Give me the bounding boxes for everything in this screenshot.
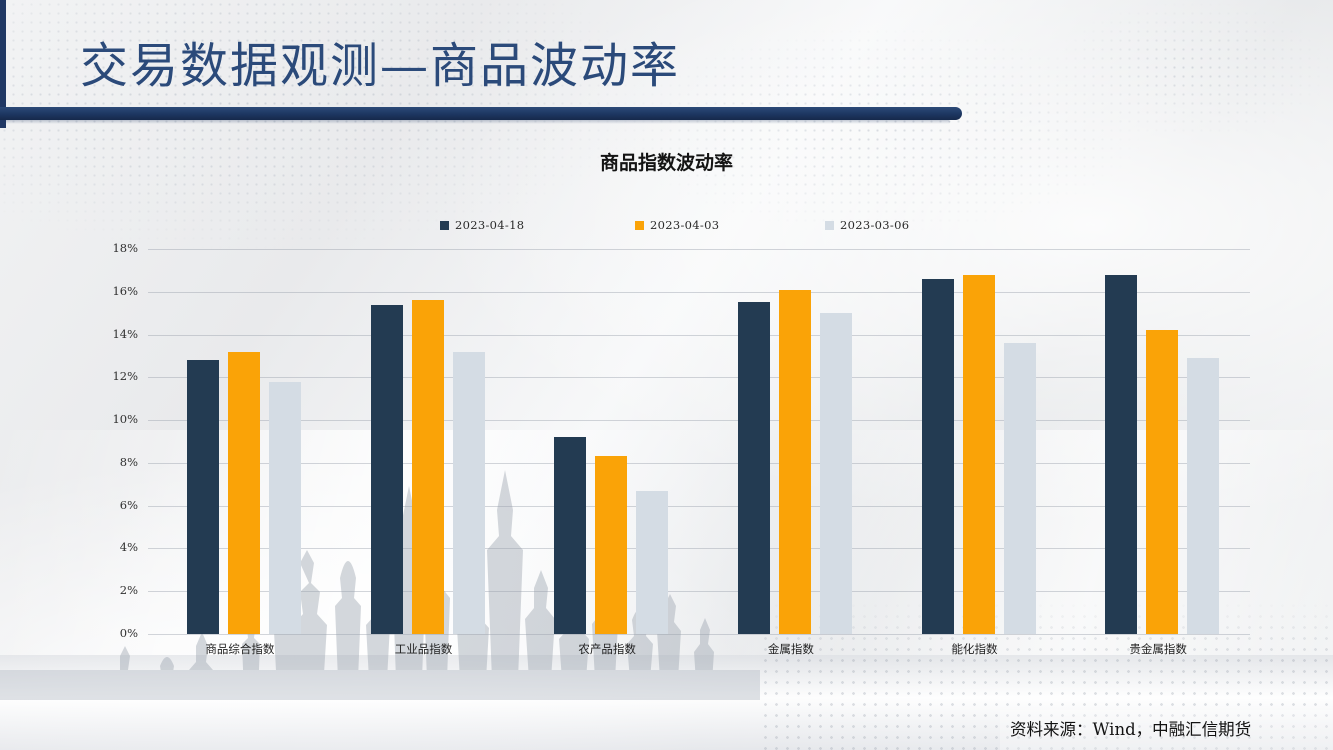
gridline: [148, 548, 1250, 549]
gridline: [148, 292, 1250, 293]
bar-2023-03-06-商品综合指数: [269, 382, 301, 634]
y-axis-tick-label: 2%: [98, 583, 138, 597]
y-axis-tick-label: 14%: [98, 327, 138, 341]
y-axis-tick-label: 0%: [98, 626, 138, 640]
legend-label: 2023-03-06: [840, 218, 909, 232]
y-axis-tick-label: 6%: [98, 498, 138, 512]
y-axis-tick-label: 18%: [98, 241, 138, 255]
bar-2023-04-18-商品综合指数: [187, 360, 219, 634]
gridline: [148, 463, 1250, 464]
commodity-volatility-chart: 商品指数波动率 2023-04-182023-04-032023-03-06 0…: [0, 130, 1333, 675]
bar-2023-04-18-工业品指数: [371, 305, 403, 634]
header-accent-bar: [0, 107, 962, 120]
x-axis-category-label: 金属指数: [699, 641, 883, 657]
bar-2023-04-03-贵金属指数: [1146, 330, 1178, 634]
bar-2023-03-06-农产品指数: [636, 491, 668, 634]
legend-item-2023-04-03[interactable]: 2023-04-03: [635, 218, 719, 232]
legend-swatch-icon: [440, 221, 449, 230]
x-axis-category-label: 能化指数: [883, 641, 1067, 657]
gridline: [148, 506, 1250, 507]
gridline: [148, 591, 1250, 592]
legend-label: 2023-04-03: [650, 218, 719, 232]
legend-swatch-icon: [825, 221, 834, 230]
legend-swatch-icon: [635, 221, 644, 230]
slide-canvas: 交易数据观测—商品波动率 商品指数波动率 2023-04-182023-04-0…: [0, 0, 1333, 750]
bar-2023-04-18-农产品指数: [554, 437, 586, 634]
bar-2023-04-03-农产品指数: [595, 456, 627, 634]
x-axis-category-label: 贵金属指数: [1066, 641, 1250, 657]
page-title: 交易数据观测—商品波动率: [80, 26, 680, 96]
bar-2023-04-03-能化指数: [963, 275, 995, 634]
x-axis-category-label: 工业品指数: [332, 641, 516, 657]
legend-item-2023-04-18[interactable]: 2023-04-18: [440, 218, 524, 232]
gridline: [148, 335, 1250, 336]
bar-2023-04-03-工业品指数: [412, 300, 444, 634]
gridline: [148, 420, 1250, 421]
bar-2023-04-03-商品综合指数: [228, 352, 260, 634]
y-axis-tick-label: 10%: [98, 412, 138, 426]
gridline: [148, 249, 1250, 250]
bar-2023-03-06-金属指数: [820, 313, 852, 634]
bar-2023-04-03-金属指数: [779, 290, 811, 634]
legend-item-2023-03-06[interactable]: 2023-03-06: [825, 218, 909, 232]
y-axis-tick-label: 4%: [98, 540, 138, 554]
y-axis-tick-label: 16%: [98, 284, 138, 298]
gridline: [148, 634, 1250, 635]
chart-plot-area: 0%2%4%6%8%10%12%14%16%18%商品综合指数工业品指数农产品指…: [148, 249, 1250, 634]
chart-legend: 2023-04-182023-04-032023-03-06: [440, 218, 920, 238]
bar-2023-04-18-贵金属指数: [1105, 275, 1137, 634]
y-axis-tick-label: 8%: [98, 455, 138, 469]
bar-2023-03-06-能化指数: [1004, 343, 1036, 634]
legend-label: 2023-04-18: [455, 218, 524, 232]
gridline: [148, 377, 1250, 378]
bar-2023-03-06-贵金属指数: [1187, 358, 1219, 634]
chart-title: 商品指数波动率: [0, 148, 1333, 175]
bar-2023-04-18-能化指数: [922, 279, 954, 634]
bar-2023-04-18-金属指数: [738, 302, 770, 634]
y-axis-tick-label: 12%: [98, 369, 138, 383]
source-note: 资料来源：Wind，中融汇信期货: [1010, 716, 1251, 740]
header-accent-bar-shadow: [0, 120, 950, 124]
bar-2023-03-06-工业品指数: [453, 352, 485, 634]
x-axis-category-label: 商品综合指数: [148, 641, 332, 657]
x-axis-category-label: 农产品指数: [515, 641, 699, 657]
